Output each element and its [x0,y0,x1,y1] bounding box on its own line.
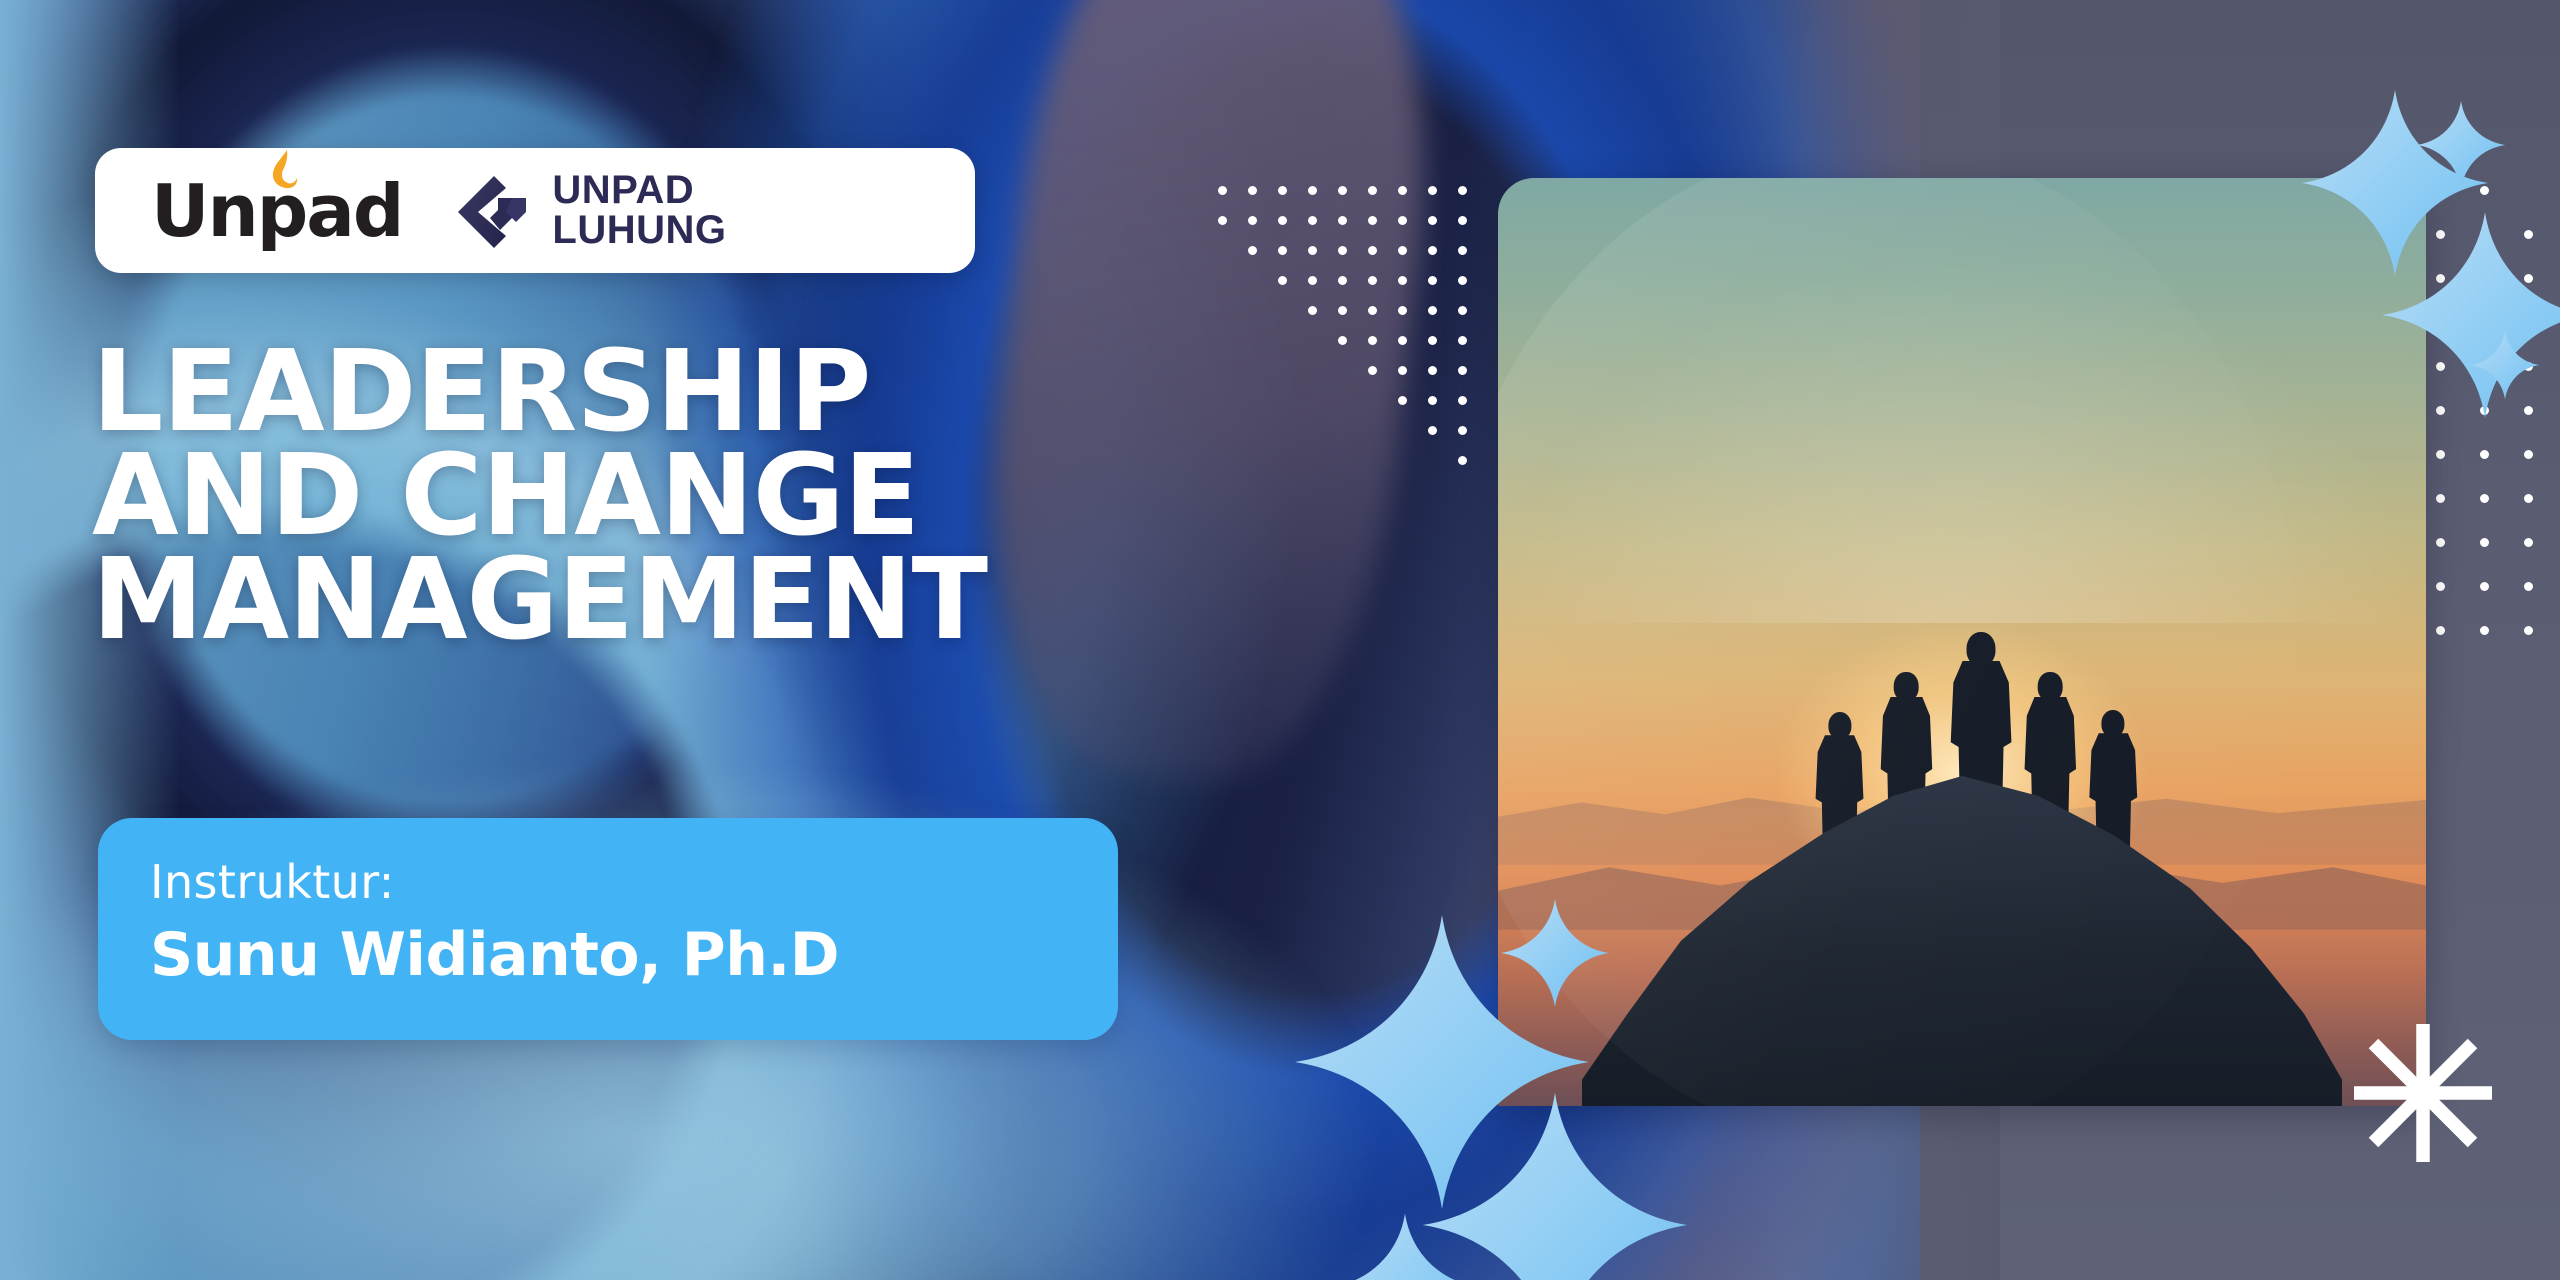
grid-dot [2480,582,2489,591]
grid-dot [1308,216,1317,225]
grid-dot [2436,538,2445,547]
grid-dot [1338,306,1347,315]
instructor-name: Sunu Widianto, Ph.D [150,920,1066,990]
grid-dot [1458,396,1467,405]
sparkle-star-icon [2470,330,2540,400]
grid-dot [1398,336,1407,345]
grid-dot [1338,246,1347,255]
grid-dot [1278,186,1287,195]
grid-dot [1428,186,1437,195]
grid-dot [1458,246,1467,255]
headline-line-2: AND CHANGE [92,444,1272,548]
grid-dot [1248,246,1257,255]
instructor-card: Instruktur: Sunu Widianto, Ph.D [98,818,1118,1040]
grid-dot [1308,246,1317,255]
grid-dot [2436,450,2445,459]
grid-dot [2480,626,2489,635]
grid-dot [2436,626,2445,635]
grid-dot [1458,276,1467,285]
grid-dot [1248,186,1257,195]
grid-dot [1308,186,1317,195]
grid-dot [1458,366,1467,375]
grid-dot [1368,276,1377,285]
flame-icon [269,149,299,195]
grid-dot [2524,494,2533,503]
sparkle-star-icon [1500,898,1610,1008]
grid-dot [1428,336,1437,345]
headline: LEADERSHIP AND CHANGE MANAGEMENT [92,340,1272,652]
hero-photo [1498,178,2426,1106]
unpad-luhung-logo: UNPAD LUHUNG [454,171,726,249]
grid-dot [1398,216,1407,225]
grid-dot [1458,456,1467,465]
grid-dot [2524,538,2533,547]
grid-dot [1218,216,1227,225]
grid-dot [2480,538,2489,547]
grid-dot [1458,336,1467,345]
grid-dot [1368,216,1377,225]
unpad-luhung-line1: UNPAD [552,171,726,210]
grid-dot [2524,582,2533,591]
grid-dot [1398,306,1407,315]
grid-dot [1428,366,1437,375]
asterisk-starburst-icon [2348,1018,2498,1168]
grid-dot [1248,216,1257,225]
grid-dot [1338,276,1347,285]
grid-dot [1428,276,1437,285]
grid-dot [1338,186,1347,195]
headline-line-1: LEADERSHIP [92,340,1272,444]
grid-dot [1218,186,1227,195]
unpad-wordmark: Unpad [151,175,402,247]
grid-dot [1428,216,1437,225]
promo-banner: Unpad UNPAD LUHUNG LEADE [0,0,2560,1280]
grid-dot [1338,216,1347,225]
grid-dot [1458,426,1467,435]
grid-dot [2436,582,2445,591]
grid-dot [1398,276,1407,285]
logo-lockup: Unpad UNPAD LUHUNG [95,148,975,273]
grid-dot [1278,246,1287,255]
grid-dot [1368,366,1377,375]
grid-dot [1458,216,1467,225]
grid-dot [1368,246,1377,255]
grid-dot [1278,216,1287,225]
grid-dot [2480,494,2489,503]
grid-dot [1368,186,1377,195]
grid-dot [1398,246,1407,255]
instructor-label: Instruktur: [150,858,1066,906]
grid-dot [1398,396,1407,405]
grid-dot [1458,186,1467,195]
grid-dot [1428,246,1437,255]
grid-dot [1398,186,1407,195]
grid-dot [2436,494,2445,503]
headline-line-3: MANAGEMENT [92,548,1272,652]
grid-dot [2524,450,2533,459]
unpad-luhung-line2: LUHUNG [552,211,726,250]
grid-dot [1308,306,1317,315]
grid-dot [1428,396,1437,405]
grid-dot [1428,426,1437,435]
grid-dot [1398,366,1407,375]
sparkle-star-icon [2416,100,2506,190]
grid-dot [1428,306,1437,315]
photo-sheen-overlay [1498,178,2296,1106]
unpad-luhung-text: UNPAD LUHUNG [552,171,726,249]
grid-dot [2524,626,2533,635]
grid-dot [2480,450,2489,459]
grid-dot [1278,276,1287,285]
grid-dot [1368,306,1377,315]
grid-dot [1308,276,1317,285]
grid-dot [1338,336,1347,345]
sparkle-star-icon [1330,1212,1480,1280]
grid-dot [1458,306,1467,315]
chevron-bracket-icon [454,172,532,250]
grid-dot [1368,336,1377,345]
